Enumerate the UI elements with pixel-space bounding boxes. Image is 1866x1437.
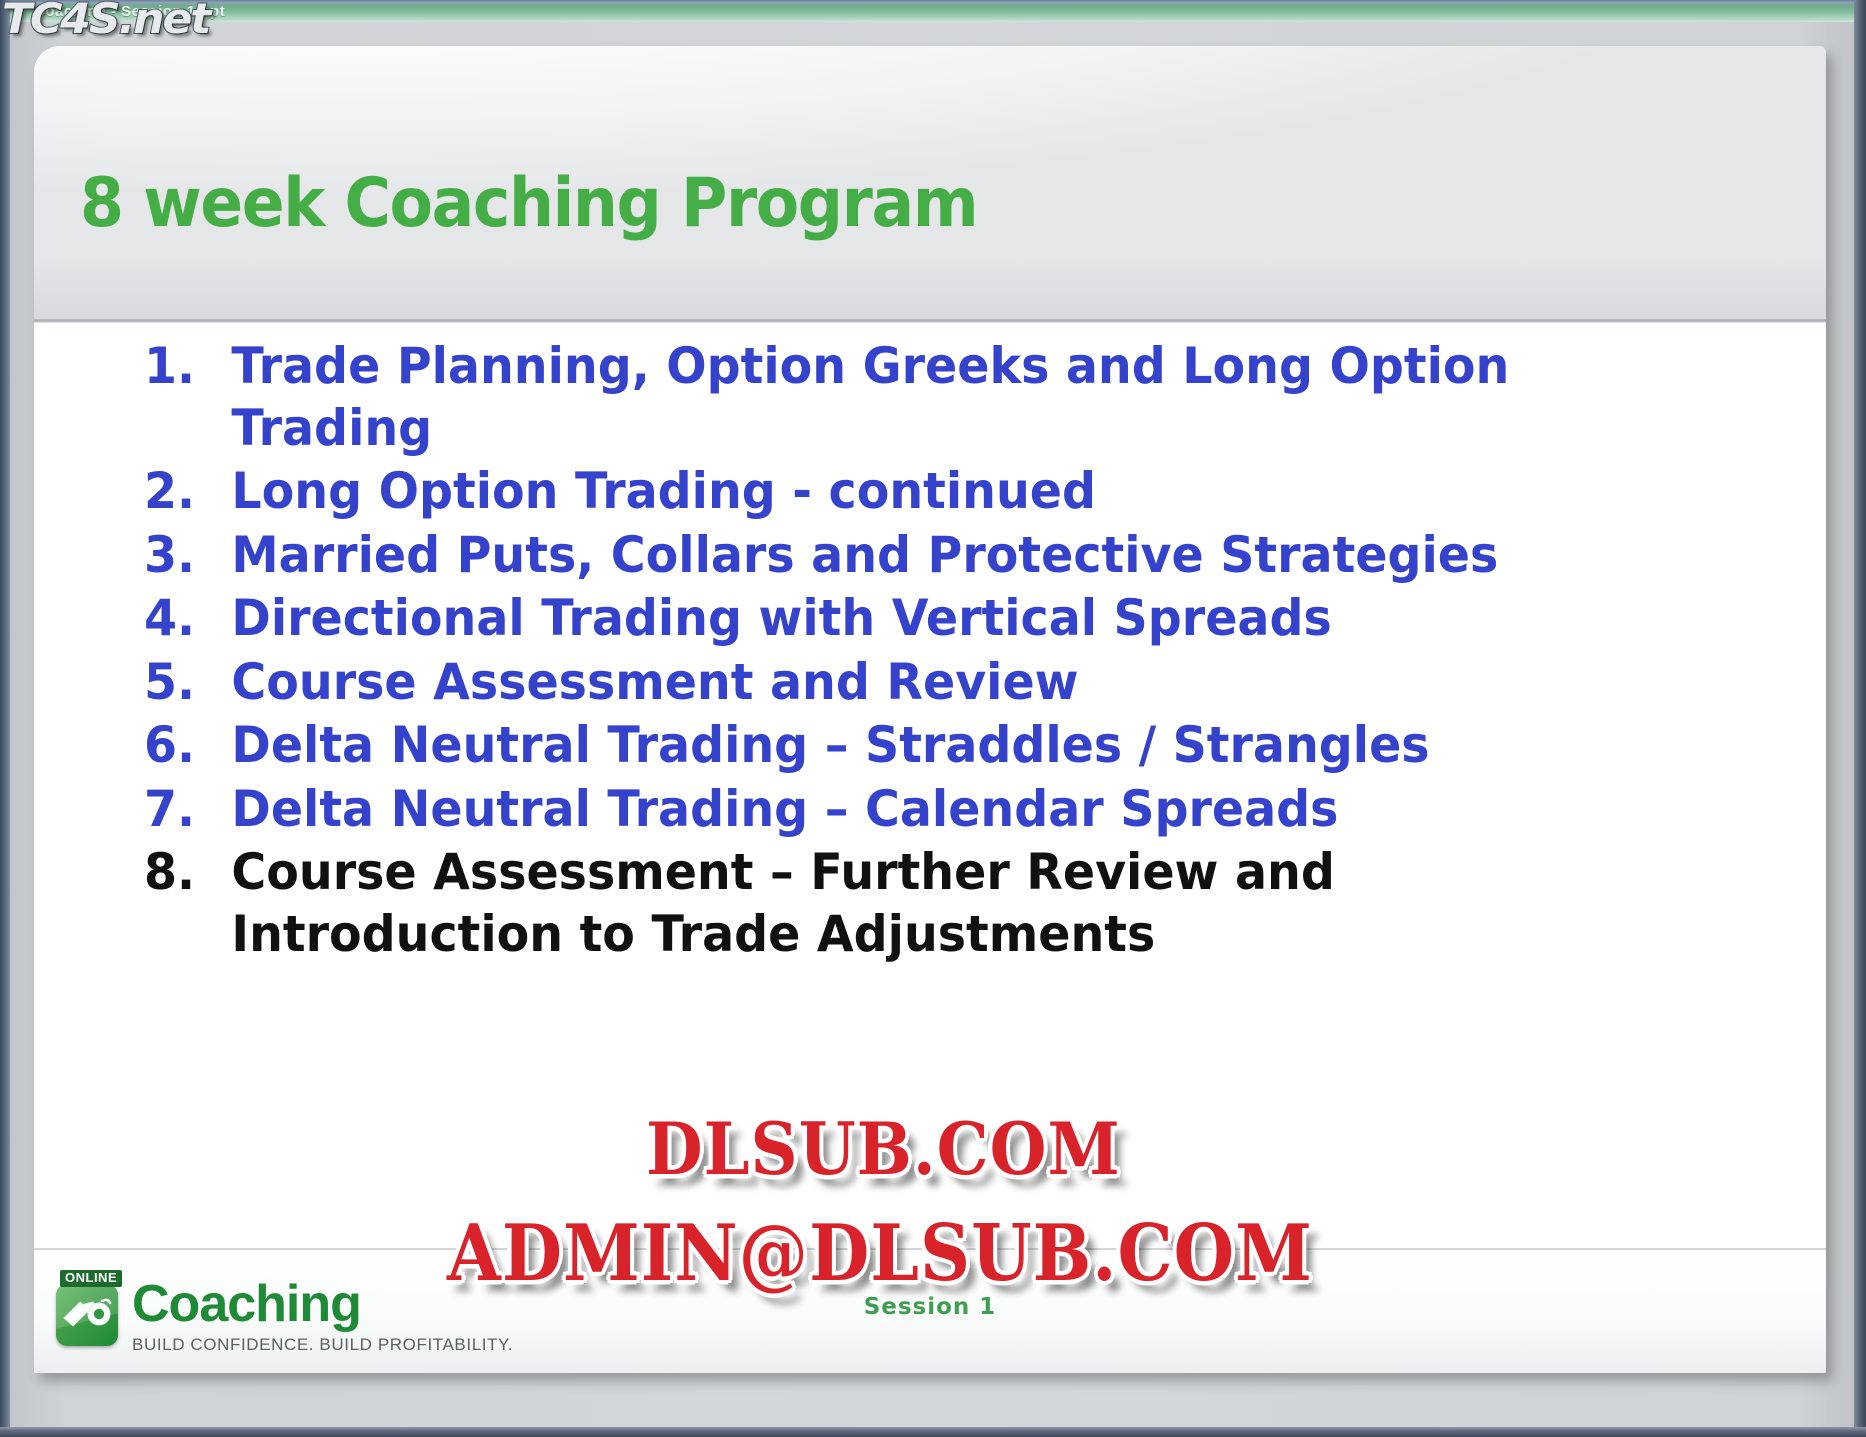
agenda-item: 6.Delta Neutral Trading – Straddles / St…: [144, 715, 1683, 777]
agenda-item-label: Married Puts, Collars and Protective Str…: [231, 525, 1683, 587]
online-badge: ONLINE: [60, 1270, 122, 1287]
agenda-list: 1.Trade Planning, Option Greeks and Long…: [144, 336, 1764, 967]
agenda-item-number: 4.: [144, 588, 231, 650]
slide-canvas: 8 week Coaching Program 1.Trade Planning…: [34, 46, 1826, 1373]
agenda-item-label: Directional Trading with Vertical Spread…: [231, 588, 1683, 650]
agenda-item-number: 1.: [144, 336, 231, 398]
agenda-item: 2.Long Option Trading - continued: [144, 461, 1683, 523]
agenda-item: 4.Directional Trading with Vertical Spre…: [144, 588, 1683, 650]
presentation-viewer: Coaching - Session 1.ppt 8 week Coaching…: [0, 0, 1866, 1437]
brand-tagline: BUILD CONFIDENCE. BUILD PROFITABILITY.: [132, 1335, 513, 1355]
window-border-bottom: [0, 1427, 1866, 1437]
agenda-item-label: Delta Neutral Trading – Straddles / Stra…: [231, 715, 1683, 777]
window-border-right: [1854, 0, 1866, 1437]
agenda-item: 7.Delta Neutral Trading – Calendar Sprea…: [144, 779, 1683, 841]
agenda-item-number: 7.: [144, 779, 231, 841]
agenda-item: 5.Course Assessment and Review: [144, 652, 1683, 714]
session-label: Session 1: [34, 1294, 1826, 1320]
agenda-item-label: Trade Planning, Option Greeks and Long O…: [231, 336, 1683, 459]
window-border-left: [0, 0, 10, 1437]
agenda-item: 1.Trade Planning, Option Greeks and Long…: [144, 336, 1683, 459]
slide-footer: ONLINE Coaching BUILD CONFIDENCE. BUILD …: [34, 1250, 1826, 1373]
agenda-item-label: Delta Neutral Trading – Calendar Spreads: [231, 779, 1683, 841]
agenda-item-number: 8.: [144, 842, 231, 904]
agenda-item-number: 5.: [144, 652, 231, 714]
agenda-item-label: Course Assessment – Further Review and I…: [231, 842, 1683, 965]
agenda-item-label: Long Option Trading - continued: [231, 461, 1683, 523]
window-titlebar: Coaching - Session 1.ppt: [10, 0, 1854, 22]
slide-body: 1.Trade Planning, Option Greeks and Long…: [34, 324, 1826, 1242]
slide-header-divider: [34, 319, 1826, 323]
agenda-item-number: 3.: [144, 525, 231, 587]
window-title: Coaching - Session 1.ppt: [34, 3, 225, 20]
agenda-item-number: 6.: [144, 715, 231, 777]
slide-title: 8 week Coaching Program: [80, 164, 977, 243]
agenda-item-label: Course Assessment and Review: [231, 652, 1683, 714]
agenda-item-number: 2.: [144, 461, 231, 523]
agenda-item: 3.Married Puts, Collars and Protective S…: [144, 525, 1683, 587]
agenda-item: 8.Course Assessment – Further Review and…: [144, 842, 1683, 965]
